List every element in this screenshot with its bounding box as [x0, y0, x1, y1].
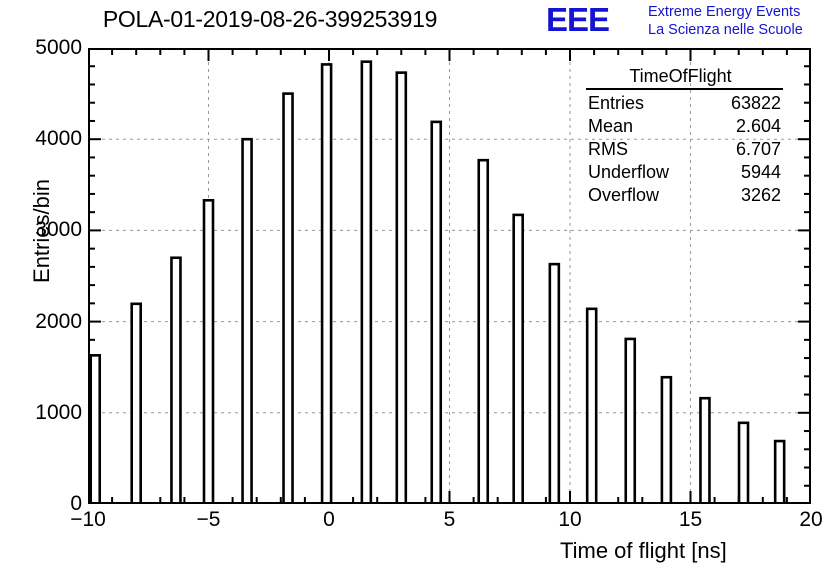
stats-row: Underflow5944 [578, 161, 783, 184]
stats-row-name: Overflow [588, 184, 659, 207]
stats-row-name: Mean [588, 115, 633, 138]
stats-box: TimeOfFlight Entries63822Mean2.604RMS6.7… [578, 66, 783, 207]
stats-row: RMS6.707 [578, 138, 783, 161]
y-tick-label: 1000 [0, 401, 82, 425]
y-tick-label: 0 [0, 492, 82, 516]
stats-row-value: 6.707 [736, 138, 781, 161]
root-canvas: POLA-01-2019-08-26-399253919 EEE Extreme… [0, 0, 836, 572]
y-tick-label: 2000 [0, 310, 82, 334]
stats-row-value: 63822 [731, 92, 781, 115]
stats-row: Overflow3262 [578, 184, 783, 207]
stats-row-name: Underflow [588, 161, 669, 184]
y-tick-label: 4000 [0, 127, 82, 151]
stats-row-value: 5944 [741, 161, 781, 184]
stats-row-name: Entries [588, 92, 644, 115]
stats-box-rows: Entries63822Mean2.604RMS6.707Underflow59… [578, 92, 783, 207]
stats-box-divider [586, 88, 783, 90]
stats-row-name: RMS [588, 138, 628, 161]
stats-row: Mean2.604 [578, 115, 783, 138]
y-tick-label: 3000 [0, 218, 82, 242]
stats-row-value: 3262 [741, 184, 781, 207]
stats-box-title: TimeOfFlight [578, 66, 783, 88]
stats-row-value: 2.604 [736, 115, 781, 138]
y-tick-label: 5000 [0, 36, 82, 60]
stats-row: Entries63822 [578, 92, 783, 115]
